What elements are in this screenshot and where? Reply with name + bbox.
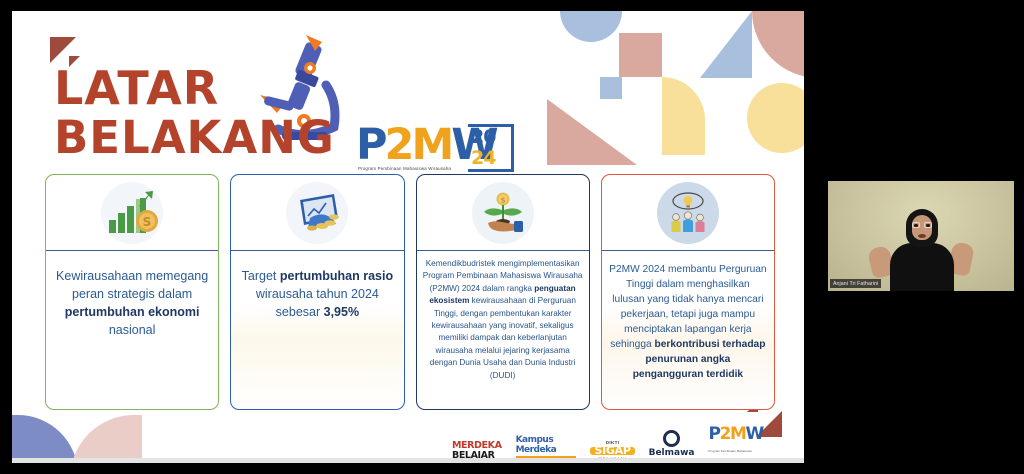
screen-share-meeting-view: LATAR BELAKANG P2MW Program Pembinaan Ma… (0, 0, 1024, 474)
card-body: Kewirausahaan memegang peran strategis d… (46, 251, 218, 409)
pmw-subtitle: Program Pembinaan Mahasiswa Wirausaha (358, 166, 451, 171)
card-text: Kewirausahaan memegang peran strategis d… (55, 267, 209, 339)
icon-halo: S (101, 182, 163, 244)
decor-circle-yellow (747, 83, 804, 153)
belmawa-name: Belmawa (649, 449, 695, 457)
presentation-slide: LATAR BELAKANG P2MW Program Pembinaan Ma… (12, 11, 804, 463)
info-card-target-ratio: Target pertumbuhan rasio wirausaha tahun… (230, 174, 404, 410)
card-text: P2MW 2024 membantu Perguruan Tinggi dala… (609, 262, 767, 382)
decor-semicircle-blue-top (560, 11, 622, 42)
card-body: P2MW 2024 membantu Perguruan Tinggi dala… (602, 251, 774, 409)
pmw-letter-2: 2 (385, 120, 412, 170)
hand-plant-coin-icon: $ (476, 190, 530, 236)
decor-triangle-blue (700, 11, 752, 78)
decor-semicircle-purple (12, 415, 78, 463)
decor-quarter-yellow (662, 77, 705, 155)
person-eye-left (914, 224, 918, 227)
participant-name-label: Anjani Tri Fatharini (830, 279, 881, 288)
person-torso (890, 243, 954, 291)
pmw-f-w: W (746, 424, 763, 444)
card-body: Target pertumbuhan rasio wirausaha tahun… (231, 251, 403, 409)
title-line-1: LATAR (54, 63, 484, 113)
card-text: Kemendikbudristek mengimplementasikan Pr… (422, 258, 584, 382)
decor-triangle-salmon (547, 99, 637, 165)
slide-bottom-strip (12, 458, 804, 463)
card-text: Target pertumbuhan rasio wirausaha tahun… (240, 267, 394, 321)
people-lightbulb-idea-icon (661, 190, 715, 236)
card-body: Kemendikbudristek mengimplementasikan Pr… (417, 251, 589, 409)
icon-halo: $ (472, 182, 534, 244)
info-card-entrepreneurship: S Kewirausahaan memegang peran strategis… (45, 174, 219, 410)
decor-square-salmon (619, 33, 662, 77)
person-mouth (918, 234, 926, 238)
pmw-year-badge: 20 24 (468, 124, 514, 172)
pmw-f-m: M (730, 424, 746, 444)
gear-icon (663, 430, 680, 447)
participant-video-tile[interactable]: Anjani Tri Fatharini (828, 181, 1014, 291)
icon-halo (286, 182, 348, 244)
person-eye-right (926, 224, 930, 227)
card-icon-area: $ (417, 175, 589, 251)
card-icon-area: S (46, 175, 218, 251)
decor-square-blue-small (600, 77, 622, 99)
monitor-coins-icon (290, 190, 344, 236)
info-card-kemendikbudristek: $ Kemendikbudristek mengimplementasi (416, 174, 590, 410)
icon-halo (657, 182, 719, 244)
pmw-letter-m: M (411, 120, 451, 170)
pmw-year-top: 20 (471, 126, 495, 148)
pmw-f-2: 2 (720, 424, 730, 444)
info-card-row: S Kewirausahaan memegang peran strategis… (45, 174, 775, 410)
decor-quartercircle-salmon (752, 11, 804, 78)
decor-quartercircle-pink (70, 415, 142, 463)
pmw-footer-wordmark: P2MW (708, 426, 762, 443)
sigap-word: SIGAP (590, 447, 634, 455)
pmw-year-bottom: 24 (471, 147, 495, 169)
participant-video-panel: Anjani Tri Fatharini (816, 0, 1024, 474)
info-card-p2mw-contribution: P2MW 2024 membantu Perguruan Tinggi dala… (601, 174, 775, 410)
bar-chart-growth-coin-icon: S (105, 190, 159, 236)
shared-screen-area: LATAR BELAKANG P2MW Program Pembinaan Ma… (0, 0, 816, 474)
pmw-f-p: P (708, 424, 719, 444)
pmw-letter-p: P (356, 120, 385, 170)
svg-text:$: $ (500, 196, 505, 204)
card-icon-area (231, 175, 403, 251)
kampus-line-2: Merdeka (516, 446, 577, 456)
card-icon-area (602, 175, 774, 251)
svg-text:S: S (143, 215, 152, 229)
